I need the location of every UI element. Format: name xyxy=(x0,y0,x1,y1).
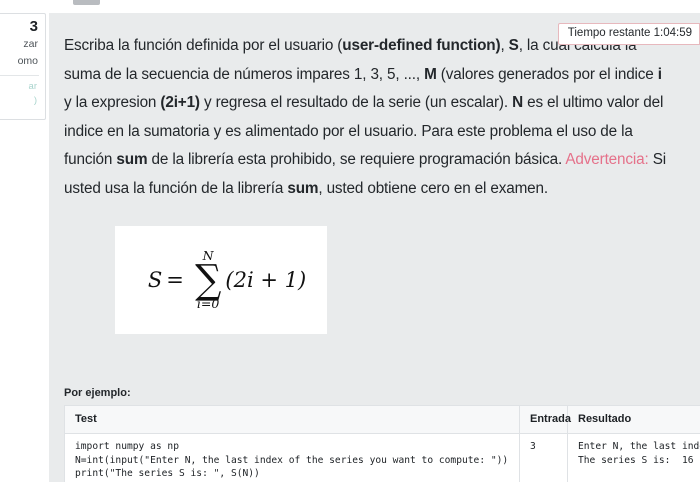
test-code: import numpy as np N=int(input("Enter N,… xyxy=(75,440,511,481)
stmt-part-5: y la expresion xyxy=(64,94,160,111)
example-table: Test Entrada Resultado import numpy as n… xyxy=(64,405,700,482)
stmt-part-8: de la librería esta prohibido, se requie… xyxy=(147,151,565,168)
formula-lhs: S xyxy=(148,268,162,292)
column-header-resultado: Resultado xyxy=(568,406,700,434)
stmt-bold-sum-2: sum xyxy=(287,180,318,197)
formula-equals: = xyxy=(166,268,184,292)
warning-label: Advertencia: xyxy=(565,151,648,168)
stmt-bold-i: i xyxy=(658,66,662,83)
sigma-icon: ∑ xyxy=(195,260,221,300)
column-header-entrada: Entrada xyxy=(520,406,568,434)
table-row: import numpy as np N=int(input("Enter N,… xyxy=(65,434,700,482)
formula-body: (2i + 1) xyxy=(225,268,306,292)
stmt-part-10: , usted obtiene cero en el examen. xyxy=(318,180,548,197)
table-header-row: Test Entrada Resultado xyxy=(65,406,700,434)
time-remaining-badge: Tiempo restante 1:04:59 xyxy=(558,23,700,45)
question-statement: Escriba la función definida por el usuar… xyxy=(64,32,671,203)
formula-image: S = N ∑ i=0 (2i + 1) xyxy=(115,226,327,334)
entrada-value: 3 xyxy=(530,440,559,454)
stmt-bold-m: M xyxy=(424,66,437,83)
example-label: Por ejemplo: xyxy=(64,387,131,399)
resultado-value: Enter N, the last inde The series S is: … xyxy=(578,440,700,467)
column-header-test: Test xyxy=(65,406,520,434)
sidebar-link-a[interactable]: ar xyxy=(0,80,39,94)
quiz-page: 3 zar omo ar ) Tiempo restante 1:04:59 E… xyxy=(0,0,700,482)
finalizar-label[interactable]: zar xyxy=(0,36,39,53)
sidebar-link-b[interactable]: ) xyxy=(0,94,39,108)
stmt-bold-n: N xyxy=(512,94,523,111)
stmt-bold-sum-1: sum xyxy=(116,151,147,168)
sigma-stack: N ∑ i=0 xyxy=(194,250,223,311)
stmt-bold-s: S xyxy=(509,37,519,54)
stmt-part-4: (valores generados por el indice xyxy=(437,66,658,83)
browser-tab-fragment[interactable] xyxy=(73,0,100,5)
stmt-bold-user-defined-function: user-defined function) xyxy=(342,37,500,54)
question-content-pane: Tiempo restante 1:04:59 Escriba la funci… xyxy=(49,13,700,482)
stmt-part-1: Escriba la función definida por el usuar… xyxy=(64,37,342,54)
stmt-bold-expression: (2i+1) xyxy=(160,94,200,111)
summation-formula: S = N ∑ i=0 (2i + 1) xyxy=(148,250,306,311)
como-label[interactable]: omo xyxy=(0,53,39,70)
sidebar-divider xyxy=(0,75,39,76)
cell-test: import numpy as np N=int(input("Enter N,… xyxy=(65,434,520,482)
stmt-part-6: y regresa el resultado de la serie (un e… xyxy=(200,94,512,111)
question-number: 3 xyxy=(0,18,39,36)
top-strip xyxy=(0,0,700,9)
cell-entrada: 3 xyxy=(520,434,568,482)
cell-resultado: Enter N, the last inde The series S is: … xyxy=(568,434,700,482)
question-nav-block: 3 zar omo ar ) xyxy=(0,13,46,120)
stmt-part-2: , xyxy=(500,37,508,54)
